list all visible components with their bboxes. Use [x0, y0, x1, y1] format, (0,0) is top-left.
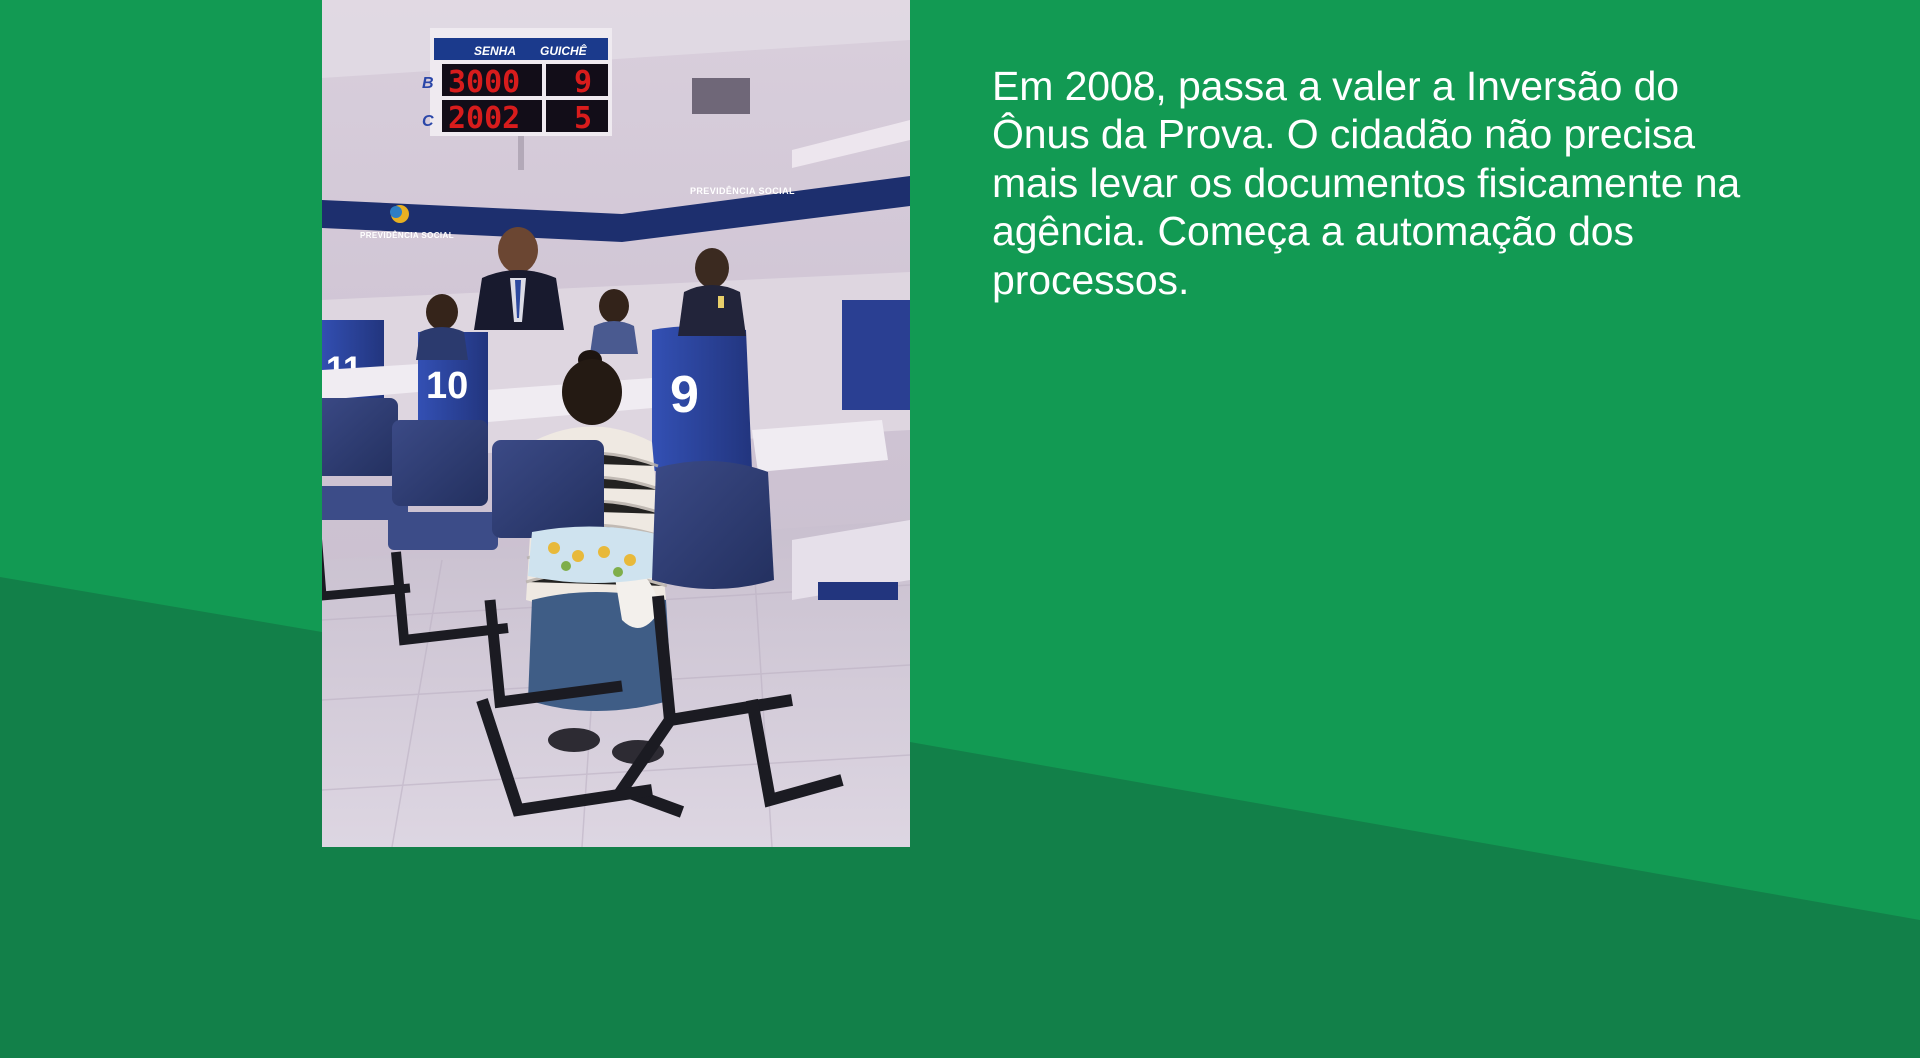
wall-sign-left: PREVIDÊNCIA SOCIAL: [360, 231, 454, 240]
chair-3-back: [492, 440, 604, 538]
counter-number-9: 9: [670, 366, 699, 424]
display-header-senha: SENHA: [474, 44, 516, 58]
display-row-b-senha: 3000: [448, 65, 520, 100]
display-board-pole: [518, 136, 524, 170]
person-suit-head: [498, 227, 538, 273]
person-seated-center-head: [599, 289, 629, 323]
person-attendant-head: [695, 248, 729, 288]
person-seated-left-head: [426, 294, 458, 330]
counter-right-sign: [818, 582, 898, 600]
counter-far-right-panel: [842, 300, 910, 410]
person-attendant-badge-icon: [718, 296, 724, 308]
display-row-b-letter: B: [422, 75, 434, 92]
chair-1-back: [322, 398, 398, 476]
chair-2-back: [392, 420, 488, 506]
patterned-bag: [528, 526, 662, 583]
person-attendant-torso: [678, 285, 746, 336]
photo-illustration: SENHA GUICHÊ B 3000 9 C 2002 5: [322, 0, 910, 847]
display-row-c-letter: C: [422, 113, 434, 130]
previdencia-logo-inner-icon: [390, 206, 402, 218]
photo-agencia-previdencia-social: SENHA GUICHÊ B 3000 9 C 2002 5: [322, 0, 910, 847]
slide-canvas: SENHA GUICHÊ B 3000 9 C 2002 5: [0, 0, 1920, 1058]
woman-head: [562, 359, 622, 425]
slide-body-text: Em 2008, passa a valer a Inversão do Ônu…: [992, 62, 1782, 304]
body-paragraph: Em 2008, passa a valer a Inversão do Ônu…: [992, 62, 1782, 304]
woman-sandal-left: [548, 728, 600, 752]
ceiling-vent-icon: [692, 78, 750, 114]
person-seated-left-torso: [416, 327, 468, 360]
counter-number-10: 10: [426, 365, 468, 407]
person-seated-center-torso: [590, 321, 638, 354]
dark-green-wedge: [0, 577, 1920, 1058]
display-header-guiche: GUICHÊ: [540, 43, 588, 58]
wall-sign-right: PREVIDÊNCIA SOCIAL: [690, 185, 795, 196]
display-row-b-guiche: 9: [574, 65, 592, 100]
chair-4-back: [652, 461, 774, 589]
counter-9-panel: [652, 326, 752, 478]
display-row-c-guiche: 5: [574, 101, 592, 136]
chair-2-seat: [388, 512, 498, 550]
display-row-c-senha: 2002: [448, 101, 520, 136]
chair-with-bag: [528, 526, 662, 583]
